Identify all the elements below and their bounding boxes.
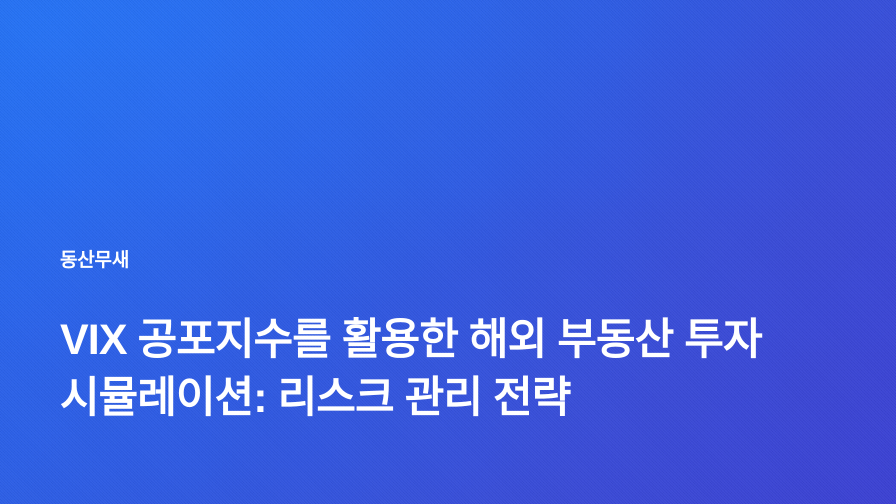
title-card-content: 동산무새 VIX 공포지수를 활용한 해외 부동산 투자 시뮬레이션: 리스크 … bbox=[60, 250, 848, 427]
site-label: 동산무새 bbox=[60, 250, 848, 273]
article-headline: VIX 공포지수를 활용한 해외 부동산 투자 시뮬레이션: 리스크 관리 전략 bbox=[60, 311, 848, 427]
article-title-card: 동산무새 VIX 공포지수를 활용한 해외 부동산 투자 시뮬레이션: 리스크 … bbox=[0, 0, 896, 504]
